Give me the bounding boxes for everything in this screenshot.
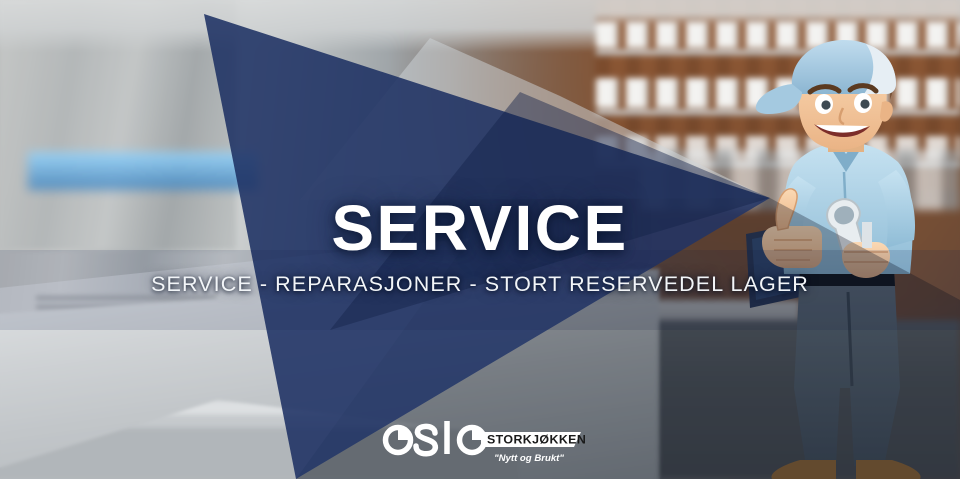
logo-tagline: "Nytt og Brukt" [494, 453, 564, 464]
pupil [860, 99, 869, 108]
shoe [856, 460, 921, 479]
pupil [821, 100, 830, 109]
oslo-wordmark [386, 421, 485, 454]
page-subtitle: SERVICE - REPARASJONER - STORT RESERVEDE… [0, 272, 960, 297]
cap-brim [756, 84, 802, 114]
headline-block: SERVICE SERVICE - REPARASJONER - STORT R… [0, 196, 960, 297]
service-banner: SERVICE SERVICE - REPARASJONER - STORT R… [0, 0, 960, 479]
page-title: SERVICE [0, 196, 960, 260]
shoe [771, 460, 836, 479]
logo-letter-s [416, 426, 435, 453]
company-logo: STORKJØKKEN AS "Nytt og Brukt" [381, 416, 587, 472]
logo-company-name: STORKJØKKEN AS [487, 433, 587, 447]
